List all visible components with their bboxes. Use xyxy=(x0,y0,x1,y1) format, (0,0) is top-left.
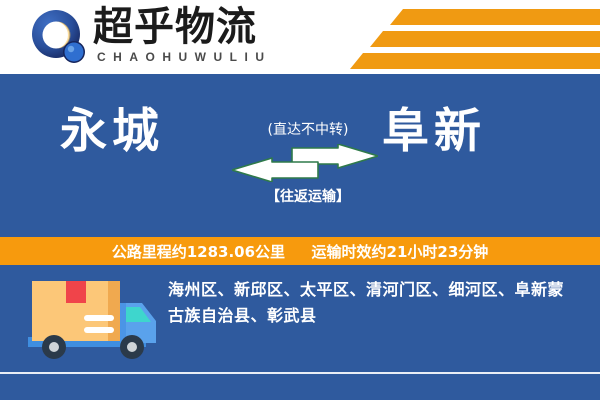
stripe-2 xyxy=(370,31,600,47)
distance-text: 公路里程约1283.06公里 xyxy=(112,243,285,261)
coverage-section: 海州区、新邱区、太平区、清河门区、细河区、阜新蒙古族自治县、彰武县 xyxy=(0,265,600,372)
stripe-3 xyxy=(350,53,600,69)
stats-bar-content: 公路里程约1283.06公里 运输时效约21小时23分钟 xyxy=(112,241,489,262)
logistics-route-banner: 超乎物流 CHAOHUWULIU 永城 (直达不中转) 【往返运输】 阜新 公路… xyxy=(0,0,600,400)
origin-city: 永城 xyxy=(60,104,164,160)
route-section: 永城 (直达不中转) 【往返运输】 阜新 xyxy=(0,74,600,237)
orange-slant-stripes-icon xyxy=(320,0,600,74)
coverage-districts: 海州区、新邱区、太平区、清河门区、细河区、阜新蒙古族自治县、彰武县 xyxy=(168,277,580,329)
brand-name-en: CHAOHUWULIU xyxy=(97,50,272,64)
header: 超乎物流 CHAOHUWULIU xyxy=(0,0,600,74)
bidirectional-arrow-icon xyxy=(232,144,378,182)
route-note-direct: (直达不中转) xyxy=(248,119,368,139)
destination-city: 阜新 xyxy=(382,104,486,160)
delivery-truck-icon xyxy=(24,277,159,363)
stats-bar: 公路里程约1283.06公里 运输时效约21小时23分钟 xyxy=(0,237,600,265)
duration-text: 运输时效约21小时23分钟 xyxy=(312,243,489,261)
brand-name-cn: 超乎物流 xyxy=(93,4,257,50)
footer-band xyxy=(0,374,600,400)
q-circle-logo-icon xyxy=(31,9,87,65)
stripe-1 xyxy=(390,9,600,25)
route-note-roundtrip: 【往返运输】 xyxy=(243,186,373,206)
